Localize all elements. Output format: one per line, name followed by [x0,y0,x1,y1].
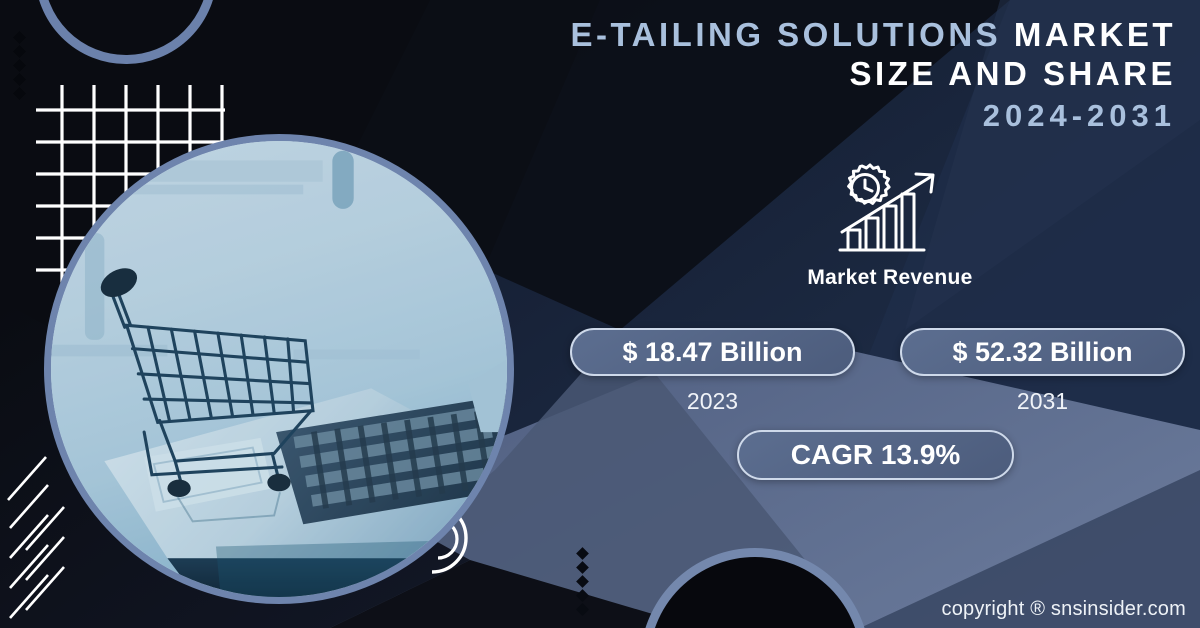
title-highlight: E-TAILING SOLUTIONS [570,16,1001,53]
market-report-banner: E-TAILING SOLUTIONS MARKET SIZE AND SHAR… [0,0,1200,628]
shopping-cart-on-laptop-photo [51,141,507,597]
title-line-1-rest: MARKET [1014,16,1176,53]
title-line-2: SIZE AND SHARE [456,55,1176,94]
market-revenue-label: Market Revenue [700,266,1080,290]
copyright-text: copyright ® snsinsider.com [942,598,1186,621]
market-growth-gear-clock-chart-icon [832,160,948,256]
title-line-1: E-TAILING SOLUTIONS MARKET [456,16,1176,55]
hero-image-circle [44,134,514,604]
base-year-label: 2023 [570,388,855,415]
forecast-value-pill: $ 52.32 Billion [900,328,1185,376]
page-title: E-TAILING SOLUTIONS MARKET SIZE AND SHAR… [456,16,1176,134]
market-revenue-block: Market Revenue [700,160,1080,290]
cagr-pill: CAGR 13.9% [737,430,1014,480]
forecast-year-label: 2031 [900,388,1185,415]
diamond-dots-decor-middle [578,549,587,619]
base-value-pill: $ 18.47 Billion [570,328,855,376]
title-forecast-period: 2024-2031 [456,98,1176,135]
diamond-dots-decor-left [15,33,24,103]
